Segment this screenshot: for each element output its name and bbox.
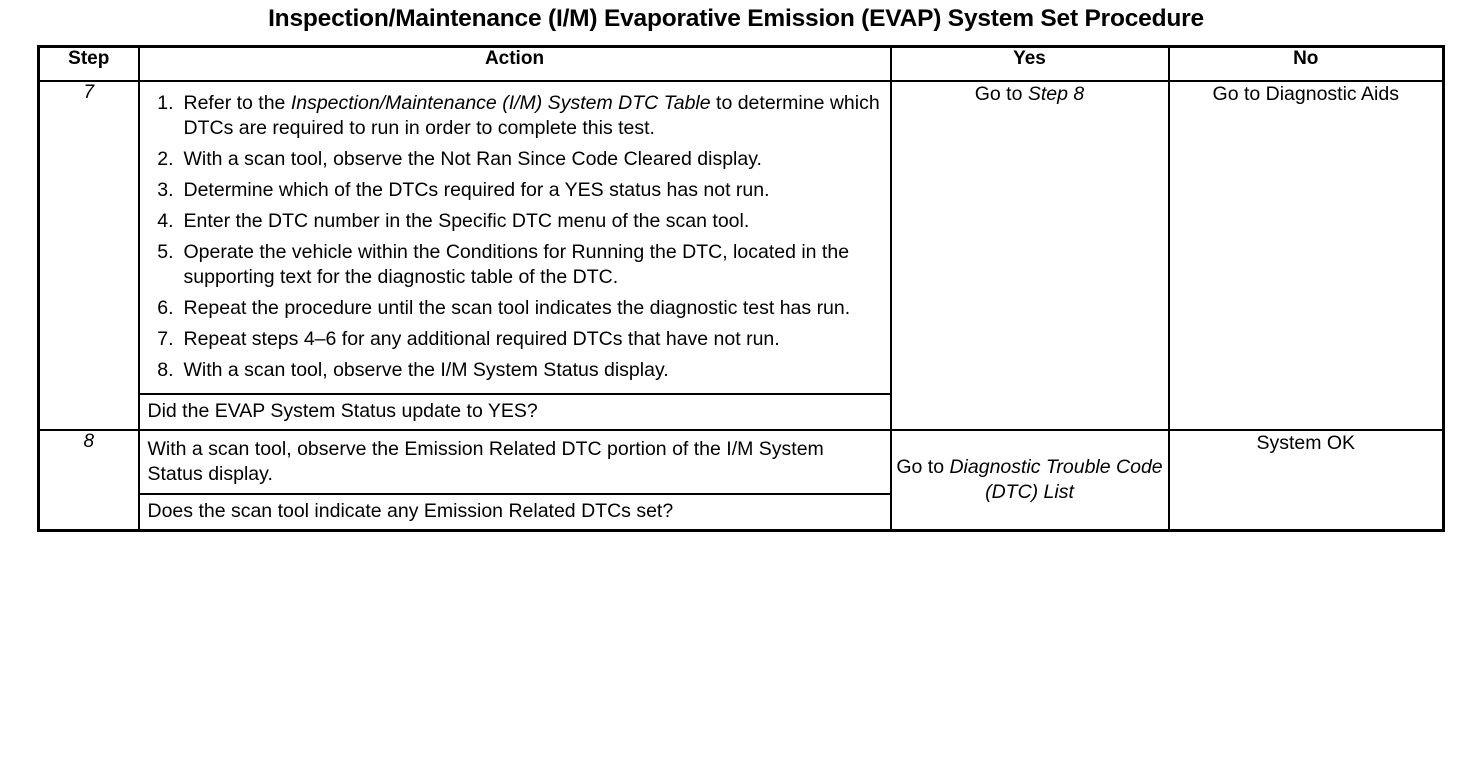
yes-answer-prefix: Go to bbox=[975, 83, 1028, 105]
yes-answer-prefix: Go to bbox=[896, 456, 949, 478]
action-instruction: With a scan tool, observe the Emission R… bbox=[140, 431, 890, 493]
no-answer-cell: Go to Diagnostic Aids bbox=[1169, 81, 1444, 430]
list-item: 4. Enter the DTC number in the Specific … bbox=[148, 209, 882, 234]
list-item: 8. With a scan tool, observe the I/M Sys… bbox=[148, 358, 882, 383]
list-item-number: 6. bbox=[148, 296, 184, 321]
list-item-text: Repeat steps 4–6 for any additional requ… bbox=[184, 327, 882, 352]
list-item: 6. Repeat the procedure until the scan t… bbox=[148, 296, 882, 321]
table-row: 7 1. Refer to the Inspection/Maintenance… bbox=[39, 81, 1444, 430]
table-row: 8 With a scan tool, observe the Emission… bbox=[39, 430, 1444, 531]
list-item-number: 3. bbox=[148, 178, 184, 203]
table-body: 7 1. Refer to the Inspection/Maintenance… bbox=[39, 81, 1444, 531]
list-item-number: 1. bbox=[148, 91, 184, 116]
step-number-cell: 8 bbox=[39, 430, 139, 531]
table-header-row: Step Action Yes No bbox=[39, 47, 1444, 82]
action-cell: 1. Refer to the Inspection/Maintenance (… bbox=[139, 81, 891, 430]
diagnostic-procedure-table: Step Action Yes No 7 1. Refer to the Ins… bbox=[37, 45, 1445, 532]
yes-answer-cell: Go to Diagnostic Trouble Code (DTC) List bbox=[891, 430, 1169, 531]
list-item-number: 7. bbox=[148, 327, 184, 352]
list-item-number: 5. bbox=[148, 240, 184, 265]
action-cell: With a scan tool, observe the Emission R… bbox=[139, 430, 891, 531]
column-header-yes: Yes bbox=[891, 47, 1169, 82]
no-answer-cell: System OK bbox=[1169, 430, 1444, 531]
step-number-cell: 7 bbox=[39, 81, 139, 430]
list-item-text-italic: Inspection/Maintenance (I/M) System DTC … bbox=[291, 92, 711, 114]
list-item-text: With a scan tool, observe the Not Ran Si… bbox=[184, 147, 882, 172]
list-item-number: 4. bbox=[148, 209, 184, 234]
list-item-text: With a scan tool, observe the I/M System… bbox=[184, 358, 882, 383]
decision-question: Does the scan tool indicate any Emission… bbox=[140, 493, 890, 529]
document-page: Inspection/Maintenance (I/M) Evaporative… bbox=[0, 0, 1472, 760]
list-item: 1. Refer to the Inspection/Maintenance (… bbox=[148, 91, 882, 141]
numbered-step-list: 1. Refer to the Inspection/Maintenance (… bbox=[140, 82, 890, 393]
list-item: 7. Repeat steps 4–6 for any additional r… bbox=[148, 327, 882, 352]
list-item-text: Determine which of the DTCs required for… bbox=[184, 178, 882, 203]
list-item: 2. With a scan tool, observe the Not Ran… bbox=[148, 147, 882, 172]
yes-answer-reference: Diagnostic Trouble Code (DTC) List bbox=[949, 456, 1162, 503]
list-item-number: 2. bbox=[148, 147, 184, 172]
no-answer-prefix: Go to Diagnostic Aids bbox=[1213, 83, 1399, 105]
column-header-step: Step bbox=[39, 47, 139, 82]
yes-answer-cell: Go to Step 8 bbox=[891, 81, 1169, 430]
list-item-text: Operate the vehicle within the Condition… bbox=[184, 240, 882, 290]
list-item-text: Refer to the Inspection/Maintenance (I/M… bbox=[184, 91, 882, 141]
list-item-text: Enter the DTC number in the Specific DTC… bbox=[184, 209, 882, 234]
column-header-no: No bbox=[1169, 47, 1444, 82]
page-title: Inspection/Maintenance (I/M) Evaporative… bbox=[0, 4, 1472, 34]
list-item-text-plain-lead: Refer to the bbox=[184, 92, 291, 114]
list-item: 5. Operate the vehicle within the Condit… bbox=[148, 240, 882, 290]
list-item-text: Repeat the procedure until the scan tool… bbox=[184, 296, 882, 321]
no-answer-prefix: System OK bbox=[1256, 432, 1355, 454]
yes-answer-reference: Step 8 bbox=[1028, 83, 1084, 105]
column-header-action: Action bbox=[139, 47, 891, 82]
list-item-number: 8. bbox=[148, 358, 184, 383]
table-header: Step Action Yes No bbox=[39, 47, 1444, 82]
decision-question: Did the EVAP System Status update to YES… bbox=[140, 393, 890, 429]
list-item: 3. Determine which of the DTCs required … bbox=[148, 178, 882, 203]
